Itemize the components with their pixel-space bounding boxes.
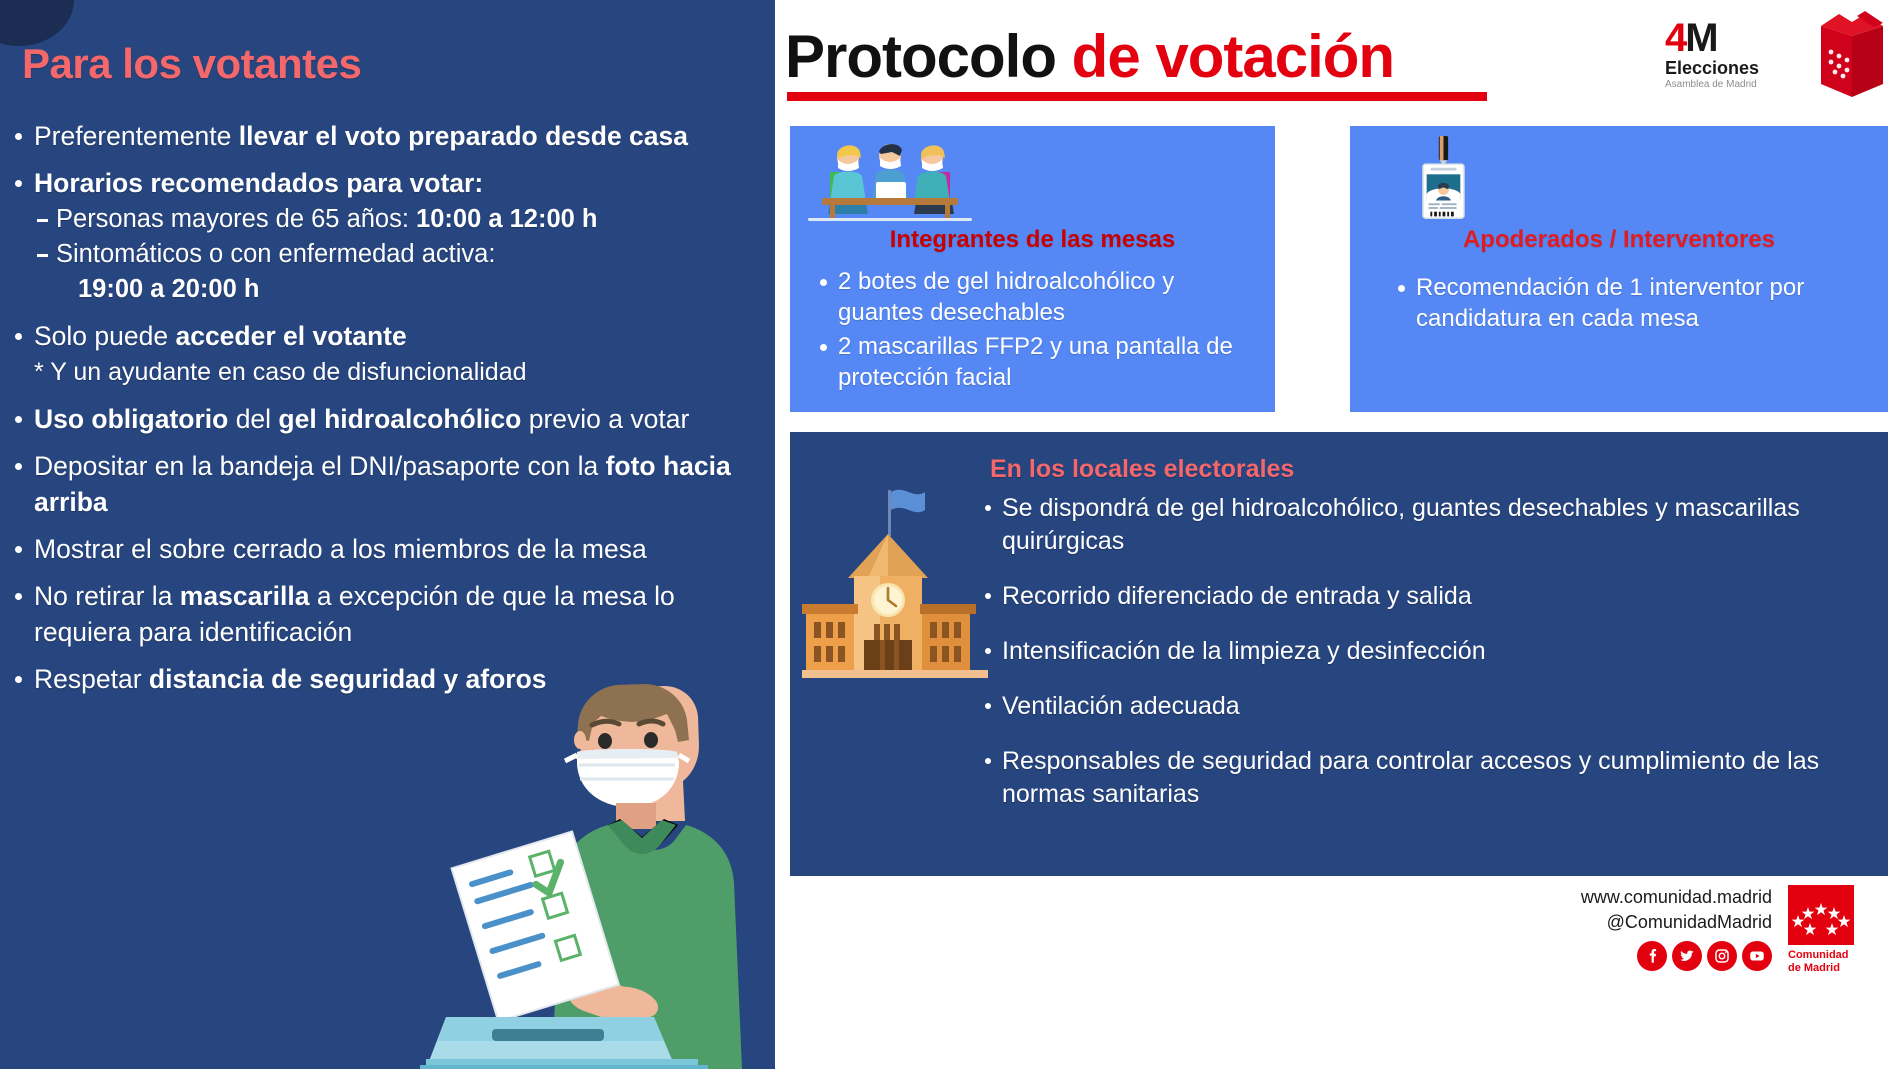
list-item: Recorrido diferenciado de entrada y sali… <box>980 580 1870 613</box>
page-title: Protocolo de votación <box>785 22 1394 91</box>
madrid-stars-flag-icon <box>1788 885 1854 945</box>
list-item: 2 botes de gel hidroalcohólico y guantes… <box>814 266 1261 328</box>
item-text-bold: llevar el voto preparado desde casa <box>239 121 688 151</box>
voter-ballot-illustration <box>420 645 750 1069</box>
voters-panel: Para los votantes Preferentemente llevar… <box>0 0 775 1069</box>
list-item: Se dispondrá de gel hidroalcohólico, gua… <box>980 492 1870 558</box>
footer-website[interactable]: www.comunidad.madrid <box>1581 885 1772 910</box>
logo-elecciones-label: Elecciones <box>1665 58 1815 78</box>
list-item: No retirar la mascarilla a excepción de … <box>6 578 766 650</box>
card-bullet-list: 2 botes de gel hidroalcohólico y guantes… <box>814 266 1261 396</box>
list-item: Preferentemente llevar el voto preparado… <box>6 118 766 154</box>
list-item: Ventilación adecuada <box>980 690 1870 723</box>
item-text-pre: Respetar <box>34 664 149 694</box>
comunidad-de-madrid-logo: Comunidad de Madrid <box>1782 885 1894 977</box>
facebook-icon[interactable] <box>1637 941 1667 971</box>
footer: www.comunidad.madrid @ComunidadMadrid <box>775 885 1900 1005</box>
4m-elecciones-logo: 4M Elecciones Asamblea de Madrid <box>1665 10 1890 102</box>
list-item: Horarios recomendados para votar: Person… <box>6 165 766 307</box>
item-text-bold: Uso obligatorio <box>34 404 228 434</box>
youtube-icon[interactable] <box>1742 941 1772 971</box>
town-hall-icon <box>802 482 988 682</box>
footer-handle[interactable]: @ComunidadMadrid <box>1581 910 1772 935</box>
dark-panel-list: Se dispondrá de gel hidroalcohólico, gua… <box>980 492 1870 833</box>
locales-electorales-panel: En los locales electorales <box>790 432 1888 876</box>
item-footnote: * Y un ayudante en caso de disfuncionali… <box>34 354 766 390</box>
sub-text-pre: Sintomáticos o con enfermedad activa: <box>56 240 495 268</box>
infographic-root: Para los votantes Preferentemente llevar… <box>0 0 1900 1069</box>
item-text-bold: Horarios recomendados para votar: <box>34 168 483 198</box>
card-title: Apoderados / Interventores <box>1350 226 1888 254</box>
item-text-bold: acceder el votante <box>175 321 406 351</box>
logo-name-line-2: de Madrid <box>1788 962 1849 975</box>
logo-4: 4 <box>1665 16 1685 60</box>
card-apoderados-interventores: Apoderados / Interventores Recomendación… <box>1350 126 1888 412</box>
dark-panel-title: En los locales electorales <box>990 455 1294 484</box>
item-text-post: previo a votar <box>521 404 689 434</box>
comunidad-madrid-label: Comunidad de Madrid <box>1788 949 1849 975</box>
list-item: Intensificación de la limpieza y desinfe… <box>980 635 1870 668</box>
card-title: Integrantes de las mesas <box>790 226 1275 254</box>
card-integrantes-mesas: Integrantes de las mesas 2 botes de gel … <box>790 126 1275 412</box>
title-underline <box>787 92 1487 101</box>
list-item: Sintomáticos o con enfermedad activa: 19… <box>34 237 766 307</box>
id-badge-icon <box>1350 136 1537 222</box>
logo-asamblea-label: Asamblea de Madrid <box>1665 78 1815 91</box>
voters-list: Preferentemente llevar el voto preparado… <box>6 118 766 708</box>
item-text-pre: Preferentemente <box>34 121 239 151</box>
item-text-bold: mascarilla <box>180 581 310 611</box>
item-text-pre: Mostrar el sobre cerrado a los miembros … <box>34 534 647 564</box>
item-text-pre: No retirar la <box>34 581 180 611</box>
page-title-accent: de votación <box>1072 23 1394 90</box>
ballot-box-icon <box>1813 10 1891 100</box>
twitter-icon[interactable] <box>1672 941 1702 971</box>
footer-contact: www.comunidad.madrid @ComunidadMadrid <box>1581 885 1772 935</box>
instagram-icon[interactable] <box>1707 941 1737 971</box>
schedule-sub-list: Personas mayores de 65 años: 10:00 a 12:… <box>34 202 766 307</box>
protocol-panel: Protocolo de votación 4M Elecciones Asam… <box>775 0 1900 1069</box>
header: Protocolo de votación 4M Elecciones Asam… <box>775 0 1900 108</box>
item-text-pre: Depositar en la bandeja el DNI/pasaporte… <box>34 451 606 481</box>
card-bullet-list: Recomendación de 1 interventor por candi… <box>1392 272 1874 337</box>
list-item: Depositar en la bandeja el DNI/pasaporte… <box>6 448 766 520</box>
list-item: 2 mascarillas FFP2 y una pantalla de pro… <box>814 331 1261 393</box>
item-text-mid: del <box>228 404 278 434</box>
logo-m: M <box>1685 16 1716 60</box>
page-title-main: Protocolo <box>785 23 1072 90</box>
polling-table-icon <box>790 136 990 222</box>
sub-text-pre: Personas mayores de 65 años: <box>56 205 416 233</box>
sub-text-bold: 10:00 a 12:00 h <box>416 205 597 233</box>
list-item: Mostrar el sobre cerrado a los miembros … <box>6 531 766 567</box>
list-item: Recomendación de 1 interventor por candi… <box>1392 272 1874 334</box>
social-links <box>1637 941 1772 971</box>
voters-panel-heading: Para los votantes <box>22 40 361 88</box>
list-item: Solo puede acceder el votante * Y un ayu… <box>6 318 766 390</box>
list-item: Responsables de seguridad para controlar… <box>980 745 1870 811</box>
sub-text-cont: 19:00 a 20:00 h <box>56 272 766 307</box>
item-text-bold-2: gel hidroalcohólico <box>278 404 521 434</box>
list-item: Personas mayores de 65 años: 10:00 a 12:… <box>34 202 766 237</box>
logo-name-line-1: Comunidad <box>1788 949 1849 962</box>
item-text-pre: Solo puede <box>34 321 175 351</box>
list-item: Uso obligatorio del gel hidroalcohólico … <box>6 401 766 437</box>
